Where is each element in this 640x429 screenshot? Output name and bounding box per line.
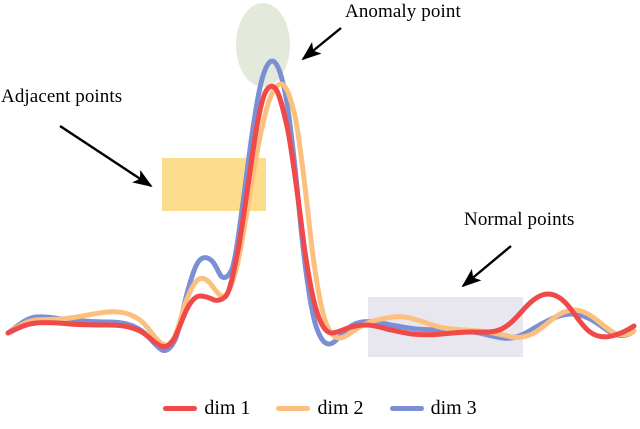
- legend-item-dim-2[interactable]: dim 2: [276, 398, 363, 418]
- legend-label-dim-1: dim 1: [204, 398, 250, 418]
- anomaly-arrow-icon: [303, 28, 341, 59]
- adjacent-points-label: Adjacent points: [1, 86, 122, 108]
- chart-legend: dim 1 dim 2 dim 3: [0, 398, 640, 418]
- legend-label-dim-3: dim 3: [431, 398, 477, 418]
- legend-item-dim-1[interactable]: dim 1: [163, 398, 250, 418]
- normal-points-label: Normal points: [464, 209, 575, 231]
- legend-label-dim-2: dim 2: [317, 398, 363, 418]
- legend-swatch-dim-1: [163, 406, 197, 411]
- adjacent-points-arrow-icon: [60, 126, 151, 186]
- normal-points-arrow-icon: [463, 246, 511, 286]
- anomaly-point-label: Anomaly point: [345, 1, 461, 23]
- legend-swatch-dim-2: [276, 406, 310, 411]
- legend-swatch-dim-3: [390, 406, 424, 411]
- legend-item-dim-3[interactable]: dim 3: [390, 398, 477, 418]
